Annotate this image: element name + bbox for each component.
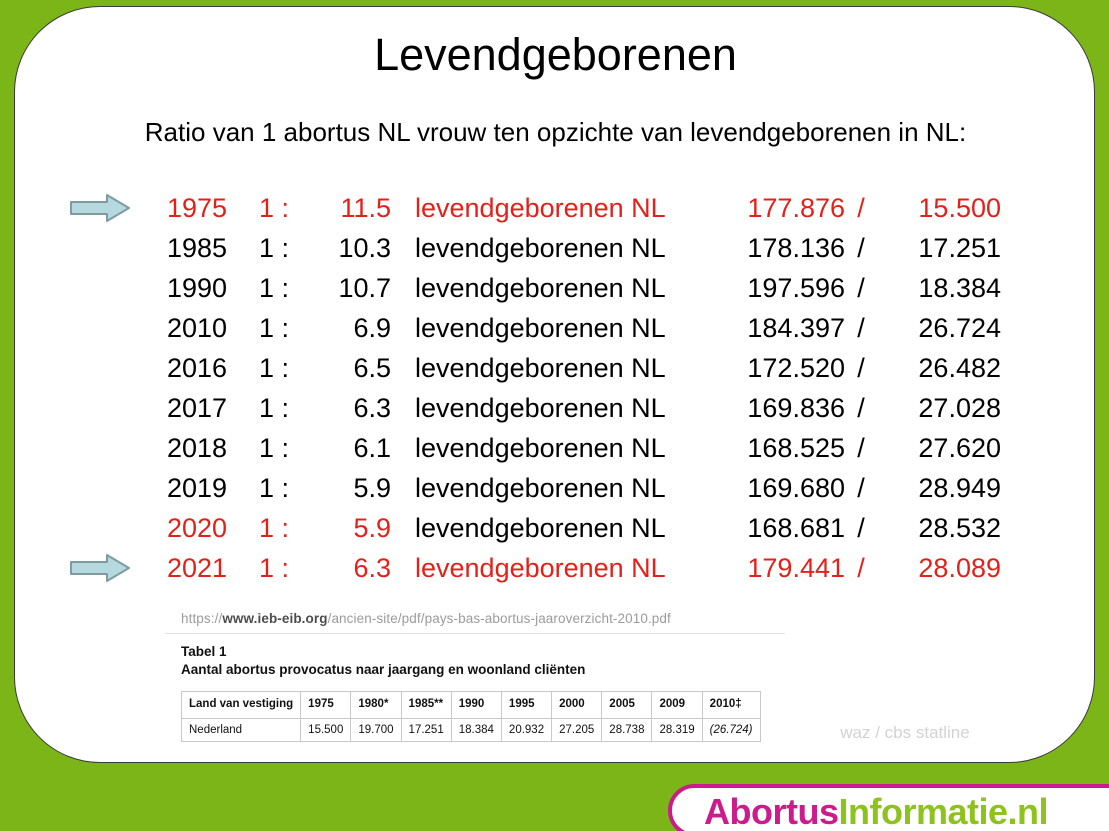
source-table-header: 1995 [501,692,551,719]
content-card: Levendgeborenen Ratio van 1 abortus NL v… [14,6,1095,763]
row-slash: / [851,348,871,388]
row-abortions: 28.532 [877,508,1001,548]
source-url: https://www.ieb-eib.org/ancien-site/pdf/… [165,605,785,634]
row-ratio: 6.3 [301,388,391,428]
source-table-header: 1975 [301,692,351,719]
row-one: 1 : [259,468,301,508]
ratio-row: 20101 :6.9levendgeborenen NL184.397/26.7… [15,308,1095,348]
row-ratio: 6.1 [301,428,391,468]
right-arrow-icon [69,553,131,583]
ratio-row: 20191 :5.9levendgeborenen NL169.680/28.9… [15,468,1095,508]
table-head: Land van vestiging19751980*1985**1990199… [182,692,761,719]
ratio-row: 20161 :6.5levendgeborenen NL172.520/26.4… [15,348,1095,388]
logo-text-informatie: Informatie.nl [839,791,1049,831]
row-one: 1 : [259,508,301,548]
row-slash: / [851,388,871,428]
slide-canvas: Levendgeborenen Ratio van 1 abortus NL v… [0,0,1109,831]
page-subtitle: Ratio van 1 abortus NL vrouw ten opzicht… [15,117,1095,148]
row-one: 1 : [259,548,301,588]
logo-text-abortus: Abortus [704,791,839,831]
row-one: 1 : [259,188,301,228]
row-abortions: 17.251 [877,228,1001,268]
source-table-cell: 15.500 [301,718,351,741]
row-ratio: 10.3 [301,228,391,268]
row-year: 1990 [167,268,239,308]
row-slash: / [851,228,871,268]
row-abortions: 15.500 [877,188,1001,228]
row-slash: / [851,188,871,228]
row-label: levendgeborenen NL [415,508,685,548]
row-abortions: 26.724 [877,308,1001,348]
row-ratio: 6.3 [301,548,391,588]
row-slash: / [851,548,871,588]
row-births: 178.136 [705,228,845,268]
source-table-cell: (26.724) [702,718,760,741]
ratio-list: 19751 :11.5levendgeborenen NL177.876/15.… [15,188,1095,588]
row-abortions: 26.482 [877,348,1001,388]
caption-line-1: Tabel 1 [181,643,785,661]
row-abortions: 28.949 [877,468,1001,508]
row-one: 1 : [259,268,301,308]
row-slash: / [851,308,871,348]
source-table-header: 1980* [351,692,401,719]
row-label: levendgeborenen NL [415,188,685,228]
row-slash: / [851,508,871,548]
table-header-row: Land van vestiging19751980*1985**1990199… [182,692,761,719]
source-table-cell: 18.384 [451,718,501,741]
source-screenshot: https://www.ieb-eib.org/ancien-site/pdf/… [165,605,785,742]
row-births: 179.441 [705,548,845,588]
ratio-row: 20171 :6.3levendgeborenen NL169.836/27.0… [15,388,1095,428]
row-year: 2017 [167,388,239,428]
row-year: 1975 [167,188,239,228]
row-year: 1985 [167,228,239,268]
source-table-header: 1990 [451,692,501,719]
row-label: levendgeborenen NL [415,308,685,348]
row-label: levendgeborenen NL [415,428,685,468]
row-one: 1 : [259,388,301,428]
row-label: levendgeborenen NL [415,468,685,508]
row-label: levendgeborenen NL [415,548,685,588]
row-ratio: 5.9 [301,508,391,548]
row-label: levendgeborenen NL [415,268,685,308]
source-table-cell: 27.205 [552,718,602,741]
row-slash: / [851,428,871,468]
source-table-row: Nederland15.50019.70017.25118.38420.9322… [182,718,761,741]
logo-text: AbortusInformatie.nl [704,791,1048,831]
source-table-header: 1985** [401,692,451,719]
row-births: 172.520 [705,348,845,388]
row-abortions: 27.028 [877,388,1001,428]
source-table-header: 2005 [602,692,652,719]
source-watermark: waz / cbs statline [775,723,1035,743]
row-births: 197.596 [705,268,845,308]
row-one: 1 : [259,348,301,388]
right-arrow-icon [69,193,131,223]
row-ratio: 10.7 [301,268,391,308]
source-table-cell: 28.738 [602,718,652,741]
row-year: 2019 [167,468,239,508]
source-table-country: Nederland [182,718,301,741]
row-births: 168.525 [705,428,845,468]
row-year: 2018 [167,428,239,468]
source-table-cell: 17.251 [401,718,451,741]
row-births: 177.876 [705,188,845,228]
source-table-header: 2000 [552,692,602,719]
row-births: 168.681 [705,508,845,548]
row-abortions: 28.089 [877,548,1001,588]
row-abortions: 18.384 [877,268,1001,308]
row-one: 1 : [259,228,301,268]
ratio-row: 19901 :10.7levendgeborenen NL197.596/18.… [15,268,1095,308]
row-ratio: 11.5 [301,188,391,228]
row-ratio: 5.9 [301,468,391,508]
row-year: 2020 [167,508,239,548]
url-suffix: /ancien-site/pdf/pays-bas-abortus-jaarov… [328,611,671,626]
caption-line-2: Aantal abortus provocatus naar jaargang … [181,661,785,679]
row-slash: / [851,268,871,308]
page-title: Levendgeborenen [15,29,1095,81]
row-year: 2010 [167,308,239,348]
source-caption: Tabel 1 Aantal abortus provocatus naar j… [165,634,785,685]
row-ratio: 6.5 [301,348,391,388]
table-body: Nederland15.50019.70017.25118.38420.9322… [182,718,761,741]
source-table-cell: 19.700 [351,718,401,741]
row-ratio: 6.9 [301,308,391,348]
row-births: 169.836 [705,388,845,428]
source-data-table: Land van vestiging19751980*1985**1990199… [181,691,761,742]
site-logo[interactable]: AbortusInformatie.nl [668,784,1109,831]
row-year: 2016 [167,348,239,388]
ratio-row: 20181 :6.1levendgeborenen NL168.525/27.6… [15,428,1095,468]
row-label: levendgeborenen NL [415,348,685,388]
row-one: 1 : [259,428,301,468]
source-table-header: 2010‡ [702,692,760,719]
ratio-row: 19751 :11.5levendgeborenen NL177.876/15.… [15,188,1095,228]
row-abortions: 27.620 [877,428,1001,468]
row-slash: / [851,468,871,508]
row-label: levendgeborenen NL [415,228,685,268]
ratio-row: 20211 :6.3levendgeborenen NL179.441/28.0… [15,548,1095,588]
url-prefix: https:// [181,611,222,626]
ratio-row: 19851 :10.3levendgeborenen NL178.136/17.… [15,228,1095,268]
source-table-cell: 20.932 [501,718,551,741]
source-table-cell: 28.319 [652,718,702,741]
source-table-header: 2009 [652,692,702,719]
ratio-row: 20201 :5.9levendgeborenen NL168.681/28.5… [15,508,1095,548]
source-table-header: Land van vestiging [182,692,301,719]
row-births: 184.397 [705,308,845,348]
row-label: levendgeborenen NL [415,388,685,428]
row-one: 1 : [259,308,301,348]
url-domain: www.ieb-eib.org [222,611,327,626]
row-year: 2021 [167,548,239,588]
row-births: 169.680 [705,468,845,508]
